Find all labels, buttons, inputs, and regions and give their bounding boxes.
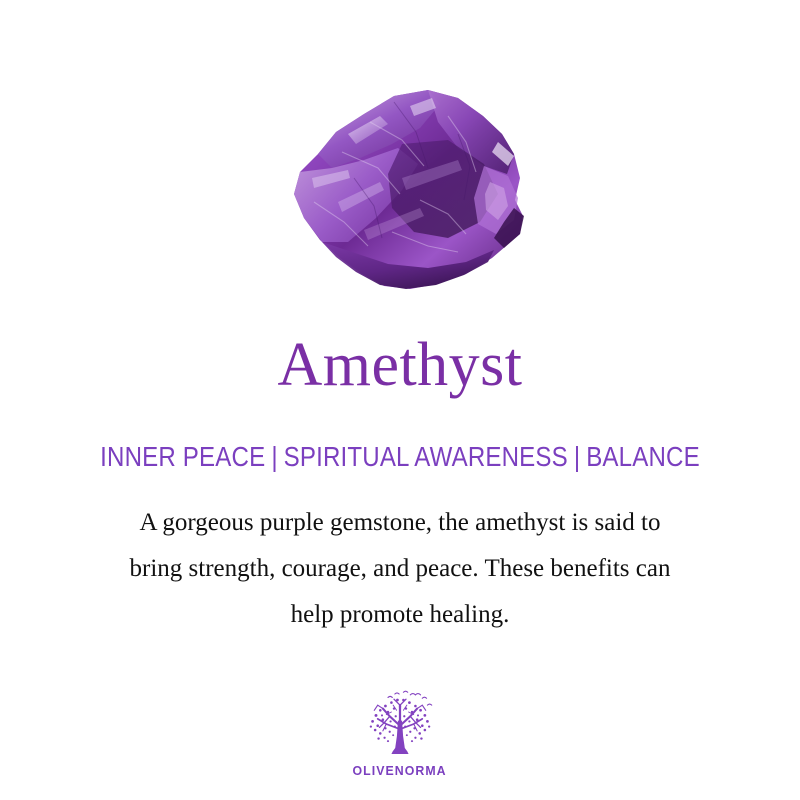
keyword-separator-1: | [265, 441, 283, 472]
keyword-balance: BALANCE [586, 441, 700, 472]
amethyst-info-card: Amethyst INNER PEACE|SPIRITUAL AWARENESS… [0, 0, 800, 800]
olive-tree-icon [357, 688, 443, 760]
description-line-3: help promote healing. [60, 592, 740, 638]
keyword-spiritual-awareness: SPIRITUAL AWARENESS [284, 441, 568, 472]
brand-logo: OLIVENORMA [0, 688, 800, 778]
amethyst-stone-image [252, 82, 558, 298]
description-line-2: bring strength, courage, and peace. Thes… [60, 546, 740, 592]
amethyst-crystal-icon [252, 82, 558, 298]
brand-wordmark: OLIVENORMA [353, 763, 447, 778]
description-line-1: A gorgeous purple gemstone, the amethyst… [60, 500, 740, 546]
keyword-list: INNER PEACE|SPIRITUAL AWARENESS|BALANCE [56, 443, 744, 471]
keyword-separator-2: | [568, 441, 586, 472]
description-text: A gorgeous purple gemstone, the amethyst… [60, 500, 740, 638]
page-title: Amethyst [0, 334, 800, 396]
keyword-inner-peace: INNER PEACE [100, 441, 265, 472]
hero-image-area [0, 0, 800, 320]
